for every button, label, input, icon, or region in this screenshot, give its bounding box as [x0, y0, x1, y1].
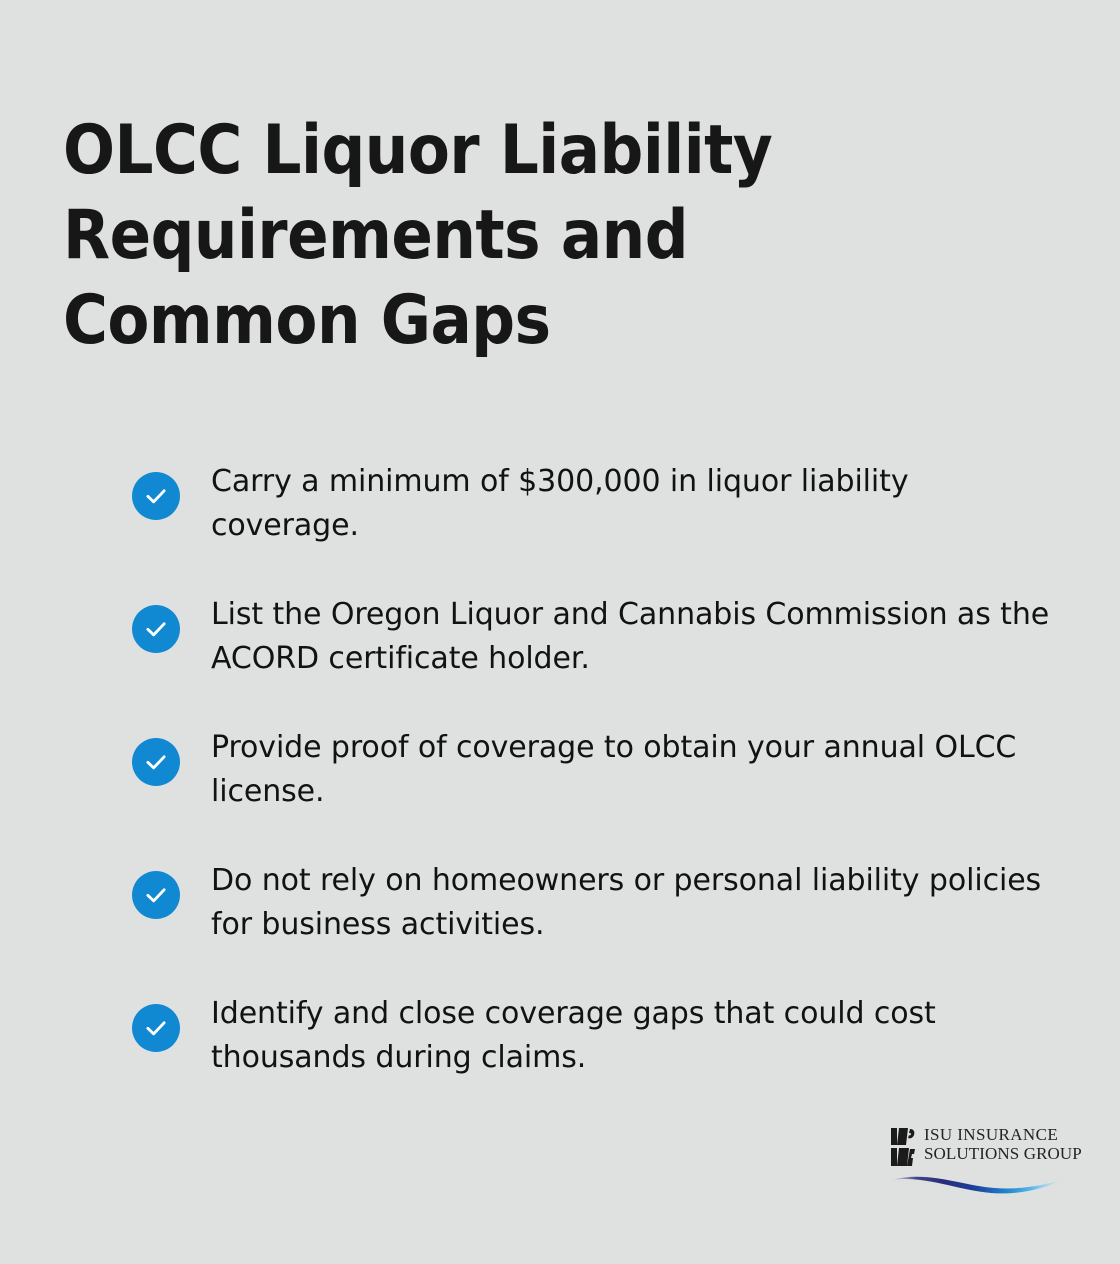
list-item: Identify and close coverage gaps that co…	[132, 987, 1062, 1080]
list-item-label: Provide proof of coverage to obtain your…	[211, 721, 1062, 814]
list-item-label: Do not rely on homeowners or personal li…	[211, 854, 1062, 947]
list-item: List the Oregon Liquor and Cannabis Comm…	[132, 588, 1062, 681]
check-circle-icon	[132, 871, 180, 919]
check-circle-icon	[132, 605, 180, 653]
list-item: Do not rely on homeowners or personal li…	[132, 854, 1062, 947]
check-circle-icon	[132, 472, 180, 520]
check-circle-icon	[132, 738, 180, 786]
list-item-label: Carry a minimum of $300,000 in liquor li…	[211, 455, 1062, 548]
page-title: OLCC Liquor Liability Requirements and C…	[63, 108, 993, 363]
logo-line-2: SOLUTIONS GROUP	[924, 1144, 1082, 1163]
title-block: OLCC Liquor Liability Requirements and C…	[63, 108, 993, 363]
check-circle-icon	[132, 1004, 180, 1052]
infographic-canvas: OLCC Liquor Liability Requirements and C…	[0, 0, 1120, 1264]
company-logo: ISU INSURANCE SOLUTIONS GROUP	[891, 1124, 1063, 1196]
checklist: Carry a minimum of $300,000 in liquor li…	[132, 455, 1062, 1080]
list-item-label: List the Oregon Liquor and Cannabis Comm…	[211, 588, 1062, 681]
swoosh-graphic	[891, 1171, 1063, 1195]
logo-wordmark: ISU INSURANCE SOLUTIONS GROUP	[924, 1124, 1082, 1163]
isu-monogram-icon	[891, 1127, 917, 1167]
list-item-label: Identify and close coverage gaps that co…	[211, 987, 1062, 1080]
list-item: Carry a minimum of $300,000 in liquor li…	[132, 455, 1062, 548]
list-item: Provide proof of coverage to obtain your…	[132, 721, 1062, 814]
logo-lockup: ISU INSURANCE SOLUTIONS GROUP	[891, 1124, 1063, 1167]
logo-line-1: ISU INSURANCE	[924, 1125, 1082, 1144]
